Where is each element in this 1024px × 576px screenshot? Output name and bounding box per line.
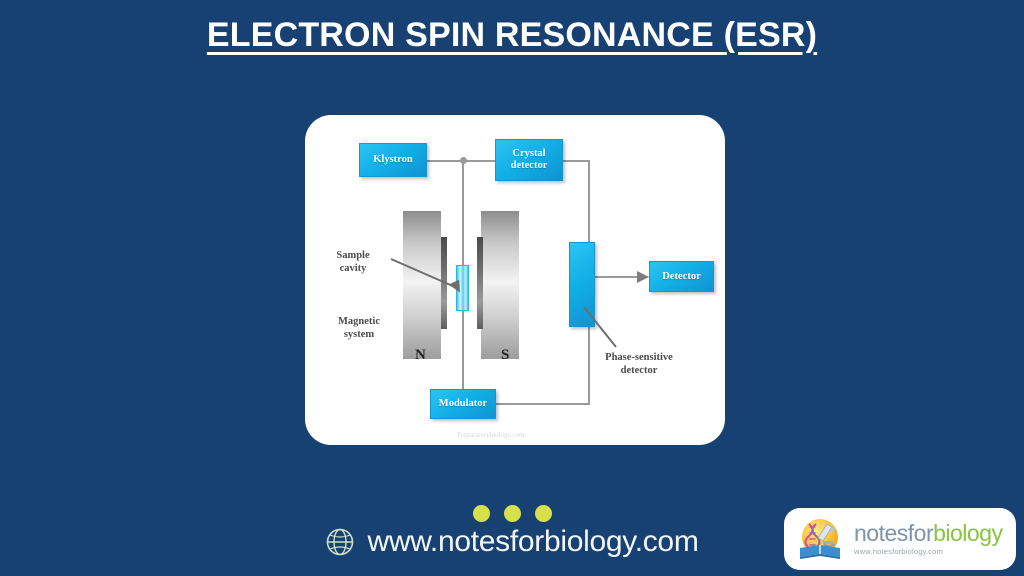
logo-wordmark: notesforbiology www.notesforbiology.com: [854, 522, 1003, 556]
page-title: ELECTRON SPIN RESONANCE (ESR): [0, 16, 1024, 55]
block-detector[interactable]: Detector: [649, 261, 714, 292]
slide-root: ELECTRON SPIN RESONANCE (ESR) Klystron C…: [0, 0, 1024, 576]
block-modulator-label: Modulator: [439, 398, 487, 410]
block-klystron-label: Klystron: [373, 154, 412, 166]
footer-dot: [535, 505, 552, 522]
logo-badge[interactable]: notesforbiology www.notesforbiology.com: [784, 508, 1016, 570]
label-magnetic-system: Magnetic system: [321, 315, 397, 341]
wire-psd-to-detector: [595, 276, 643, 278]
magnet-inner-bar-right: [477, 237, 483, 329]
footer-url-text[interactable]: www.notesforbiology.com: [367, 525, 698, 559]
wire-crystal-down-to-psd: [588, 160, 590, 243]
wire-junction-to-crystal: [466, 160, 498, 162]
logo-title-part-1: notesfor: [854, 520, 933, 546]
magnet-pole-south-label: S: [501, 347, 509, 364]
leader-line-phase-sensitive: [582, 305, 626, 351]
label-phase-sensitive-detector: Phase-sensitive detector: [587, 351, 691, 377]
logo-title: notesforbiology: [854, 522, 1003, 545]
globe-icon: [325, 527, 355, 557]
block-detector-label: Detector: [662, 271, 700, 283]
diagram-card: Klystron Crystal detector Detector Modul…: [305, 115, 725, 445]
label-sample-cavity: Sample cavity: [315, 249, 391, 275]
block-crystal-detector[interactable]: Crystal detector: [495, 139, 563, 181]
footer-dot: [473, 505, 490, 522]
logo-title-part-2: biology: [933, 520, 1002, 546]
block-crystal-detector-label: Crystal detector: [511, 148, 548, 172]
wire-crystal-right: [561, 160, 590, 162]
logo-subtitle: www.notesforbiology.com: [854, 548, 1003, 556]
block-modulator[interactable]: Modulator: [430, 389, 496, 419]
microscope-dna-book-icon: [794, 515, 846, 563]
diagram-watermark: Preparatorybiology.com: [457, 431, 524, 439]
footer-dot: [504, 505, 521, 522]
leader-line-sample-cavity: [389, 257, 465, 293]
magnet-pole-south: [481, 211, 519, 359]
block-klystron[interactable]: Klystron: [359, 143, 427, 177]
magnet-pole-north-label: N: [415, 347, 426, 364]
